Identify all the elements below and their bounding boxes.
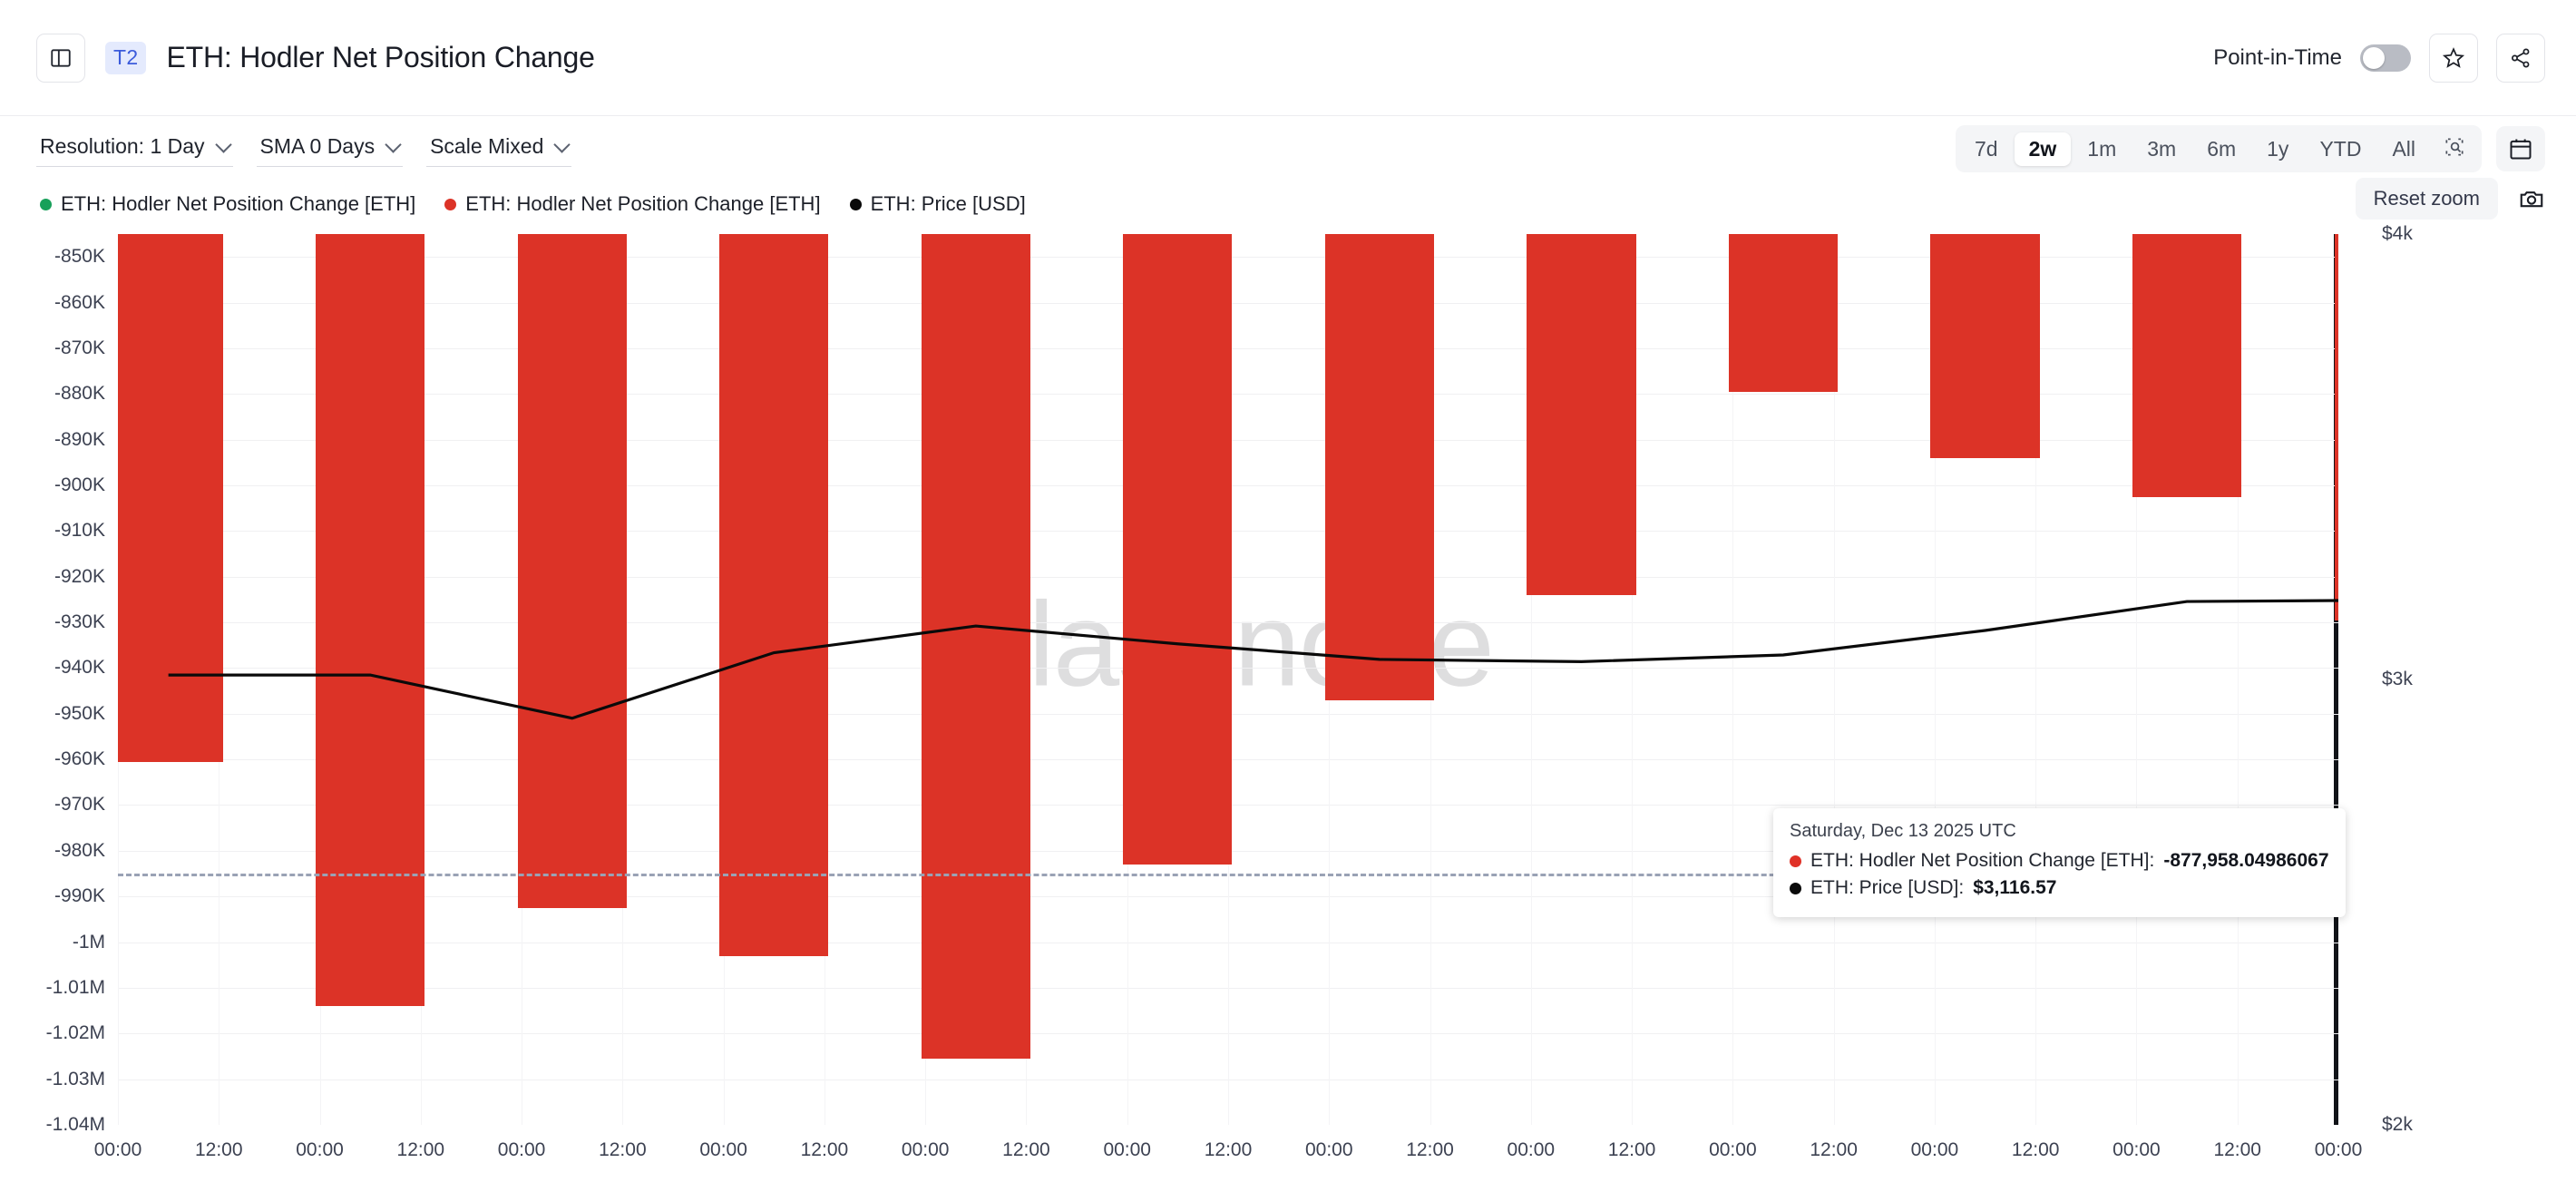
y-tick-label: -880K [54, 383, 105, 405]
plot-area[interactable]: glassnode [118, 234, 2338, 1125]
y-tick-label: -1.01M [46, 977, 105, 999]
chart-actions: Reset zoom [2356, 178, 2545, 220]
header-right-group: Point-in-Time [2213, 34, 2545, 83]
sidebar-toggle-button[interactable] [36, 34, 85, 83]
legend-color-dot [850, 199, 862, 210]
x-axis-labels: 00:0012:0000:0012:0000:0012:0000:0012:00… [118, 1139, 2338, 1176]
y-tick-label: -970K [54, 794, 105, 816]
y-tick-right-label: $3k [2382, 669, 2413, 690]
chart-tooltip: Saturday, Dec 13 2025 UTC ETH: Hodler Ne… [1773, 808, 2346, 917]
zoom-select-icon [2443, 135, 2466, 159]
x-tick-label: 12:00 [397, 1139, 445, 1161]
legend-color-dot [444, 199, 456, 210]
favorite-button[interactable] [2429, 34, 2478, 83]
x-tick-label: 12:00 [2012, 1139, 2060, 1161]
calendar-button[interactable] [2496, 126, 2545, 171]
y-tick-label: -940K [54, 657, 105, 679]
y-tick-right-label: $4k [2382, 223, 2413, 245]
tooltip-date: Saturday, Dec 13 2025 UTC [1790, 821, 2329, 842]
header-left-group: T2 ETH: Hodler Net Position Change [36, 34, 595, 83]
range-1y[interactable]: 1y [2252, 132, 2303, 166]
y-tick-label: -990K [54, 885, 105, 907]
x-tick-label: 12:00 [1002, 1139, 1050, 1161]
tier-badge: T2 [105, 42, 146, 74]
y-axis-left: -850K-860K-870K-880K-890K-900K-910K-920K… [0, 234, 112, 1125]
y-tick-label: -1.04M [46, 1114, 105, 1136]
point-in-time-label: Point-in-Time [2213, 45, 2342, 71]
y-tick-label: -1.03M [46, 1069, 105, 1090]
x-tick-label: 00:00 [1911, 1139, 1959, 1161]
x-tick-label: 00:00 [1508, 1139, 1556, 1161]
share-button[interactable] [2496, 34, 2545, 83]
zoom-select-button[interactable] [2432, 130, 2477, 168]
range-ytd[interactable]: YTD [2305, 132, 2376, 166]
x-tick-label: 00:00 [296, 1139, 344, 1161]
legend-label: ETH: Hodler Net Position Change [ETH] [465, 192, 820, 216]
legend-label: ETH: Price [USD] [871, 192, 1026, 216]
tooltip-rows: ETH: Hodler Net Position Change [ETH]: -… [1790, 847, 2329, 903]
chart-legend: ETH: Hodler Net Position Change [ETH]ETH… [0, 181, 2576, 221]
y-tick-label: -1.02M [46, 1022, 105, 1044]
tooltip-color-dot [1790, 855, 1801, 867]
x-tick-label: 00:00 [2315, 1139, 2363, 1161]
x-tick-label: 12:00 [1810, 1139, 1858, 1161]
chart-container[interactable]: -850K-860K-870K-880K-890K-900K-910K-920K… [0, 223, 2576, 1192]
chevron-down-icon [385, 136, 401, 152]
legend-item-1[interactable]: ETH: Hodler Net Position Change [ETH] [444, 192, 820, 216]
x-tick-label: 12:00 [801, 1139, 849, 1161]
y-tick-right-label: $2k [2382, 1114, 2413, 1136]
y-tick-label: -900K [54, 474, 105, 496]
resolution-value: Resolution: 1 Day [40, 134, 205, 159]
tooltip-color-dot [1790, 883, 1801, 894]
y-tick-label: -870K [54, 337, 105, 359]
panel-toggle-icon [49, 46, 73, 70]
chevron-down-icon [215, 136, 231, 152]
range-1m[interactable]: 1m [2073, 132, 2131, 166]
price-line-path [169, 601, 2338, 718]
page-title: ETH: Hodler Net Position Change [166, 41, 594, 74]
legend-item-2[interactable]: ETH: Price [USD] [850, 192, 1026, 216]
x-tick-label: 12:00 [2213, 1139, 2261, 1161]
y-tick-label: -1M [73, 932, 105, 953]
x-tick-label: 12:00 [599, 1139, 647, 1161]
tooltip-row: ETH: Price [USD]: $3,116.57 [1790, 874, 2329, 902]
legend-color-dot [40, 199, 52, 210]
x-tick-label: 12:00 [1406, 1139, 1454, 1161]
range-all[interactable]: All [2377, 132, 2430, 166]
camera-icon[interactable] [2518, 185, 2545, 212]
sma-dropdown[interactable]: SMA 0 Days [257, 131, 404, 167]
sma-value: SMA 0 Days [260, 134, 376, 159]
calendar-icon [2508, 136, 2533, 161]
y-tick-label: -920K [54, 566, 105, 588]
x-tick-label: 00:00 [1103, 1139, 1151, 1161]
x-tick-label: 12:00 [1608, 1139, 1656, 1161]
range-selector: 7d2w1m3m6m1yYTDAll [1956, 125, 2482, 172]
x-tick-label: 12:00 [1205, 1139, 1253, 1161]
app-header: T2 ETH: Hodler Net Position Change Point… [0, 0, 2576, 116]
range-selector-group: 7d2w1m3m6m1yYTDAll [1956, 125, 2545, 172]
share-icon [2509, 46, 2532, 70]
chart-toolbar: Resolution: 1 Day SMA 0 Days Scale Mixed… [0, 116, 2576, 181]
x-tick-label: 12:00 [195, 1139, 243, 1161]
tooltip-label: ETH: Price [USD]: [1810, 874, 1964, 902]
chevron-down-icon [554, 136, 571, 152]
x-tick-label: 00:00 [902, 1139, 950, 1161]
tooltip-row: ETH: Hodler Net Position Change [ETH]: -… [1790, 847, 2329, 874]
scale-value: Scale Mixed [430, 134, 543, 159]
legend-item-0[interactable]: ETH: Hodler Net Position Change [ETH] [40, 192, 415, 216]
tooltip-label: ETH: Hodler Net Position Change [ETH]: [1810, 847, 2154, 874]
x-tick-label: 00:00 [1709, 1139, 1757, 1161]
range-7d[interactable]: 7d [1960, 132, 2013, 166]
price-line-series [118, 234, 2338, 1125]
y-tick-label: -950K [54, 703, 105, 725]
y-axis-right: $4k$3k$2k [2349, 234, 2576, 1125]
y-tick-label: -910K [54, 520, 105, 542]
star-icon [2442, 46, 2465, 70]
tooltip-value: $3,116.57 [1973, 874, 2056, 902]
y-tick-label: -860K [54, 292, 105, 314]
y-tick-label: -980K [54, 840, 105, 862]
y-tick-label: -930K [54, 611, 105, 633]
chart-controls: Resolution: 1 Day SMA 0 Days Scale Mixed [36, 131, 571, 167]
scale-dropdown[interactable]: Scale Mixed [426, 131, 571, 167]
reset-zoom-button[interactable]: Reset zoom [2356, 178, 2498, 220]
resolution-dropdown[interactable]: Resolution: 1 Day [36, 131, 233, 167]
x-tick-label: 00:00 [94, 1139, 142, 1161]
range-2w[interactable]: 2w [2015, 132, 2072, 166]
legend-label: ETH: Hodler Net Position Change [ETH] [61, 192, 415, 216]
range-6m[interactable]: 6m [2192, 132, 2250, 166]
y-tick-label: -890K [54, 429, 105, 451]
x-tick-label: 00:00 [498, 1139, 546, 1161]
toggle-knob [2363, 47, 2385, 69]
x-tick-label: 00:00 [699, 1139, 747, 1161]
x-tick-label: 00:00 [1305, 1139, 1353, 1161]
y-tick-label: -850K [54, 246, 105, 268]
point-in-time-toggle[interactable] [2360, 44, 2411, 72]
tooltip-value: -877,958.04986067 [2163, 847, 2328, 874]
y-tick-label: -960K [54, 748, 105, 770]
range-3m[interactable]: 3m [2132, 132, 2191, 166]
x-tick-label: 00:00 [2113, 1139, 2161, 1161]
